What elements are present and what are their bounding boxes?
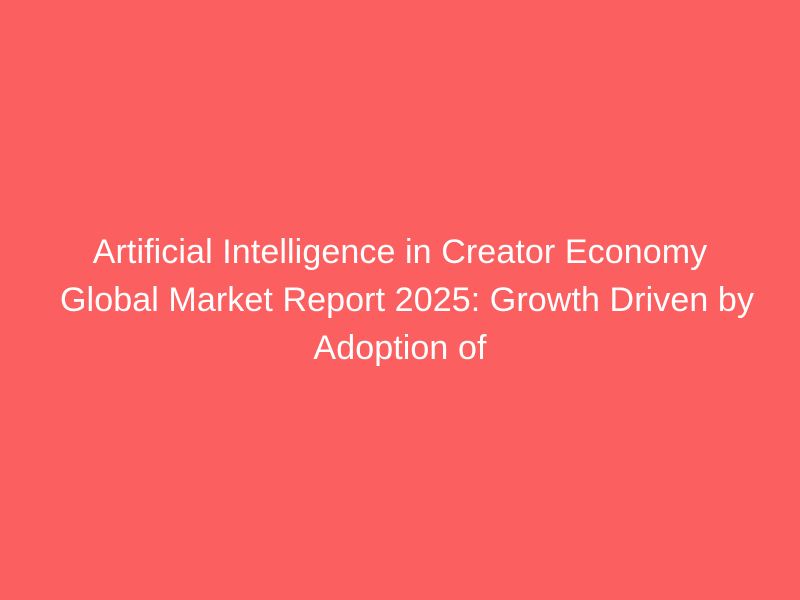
page-title: Artificial Intelligence in Creator Econo… bbox=[40, 228, 760, 372]
title-line-2: Global Market Report 2025: Growth Driven… bbox=[60, 276, 740, 324]
title-line-1: Artificial Intelligence in Creator Econo… bbox=[60, 228, 740, 276]
title-line-3: Adoption of bbox=[60, 324, 740, 372]
title-card: Artificial Intelligence in Creator Econo… bbox=[0, 0, 800, 600]
